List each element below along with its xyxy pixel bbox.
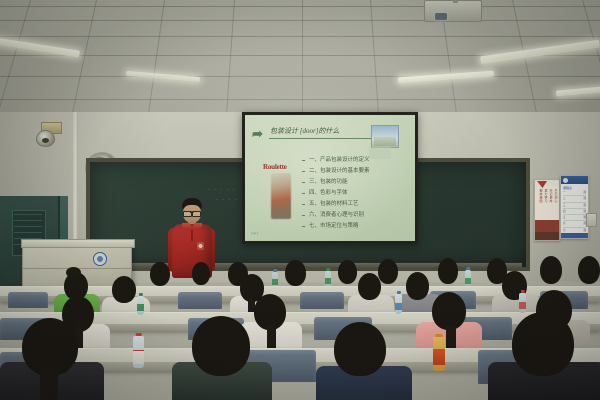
lectern-top xyxy=(21,239,135,248)
projector-mount xyxy=(453,0,458,3)
poster-footer-bar xyxy=(561,233,588,238)
poster-line: 努力学习 xyxy=(544,189,547,203)
poster-line: 牵记使命 xyxy=(549,189,552,203)
juice-bottle xyxy=(433,337,445,371)
water-bottle xyxy=(133,336,144,368)
poster-title: 课程表 xyxy=(563,186,572,190)
slide-corner-photo xyxy=(371,125,399,148)
blue-schedule-poster: 课程表 一 课 二 课 三 课 四 课 五 课 六 xyxy=(560,175,589,239)
row-right: 课 xyxy=(583,196,586,201)
slide-bullet-list: 一、产品包装设计的定义 二、包装设计的基本要素 三、包装的功能 四、色彩与字体 … xyxy=(301,155,407,232)
slide-bullet: 一、产品包装设计的定义 xyxy=(301,155,407,166)
poster-line: 报效祖国 xyxy=(539,189,542,203)
presenter-placket xyxy=(191,230,193,241)
poster-badge-icon xyxy=(563,178,568,183)
poster-header-bar xyxy=(561,176,588,184)
water-bottle xyxy=(137,296,144,315)
row-right: 课 xyxy=(583,190,586,195)
red-notice-poster: 不忘初心 牵记使命 努力学习 报效祖国 xyxy=(534,179,560,241)
row-right: 课 xyxy=(583,203,586,208)
seat xyxy=(300,292,344,309)
university-seal-icon xyxy=(93,252,107,266)
dome-security-camera-icon xyxy=(36,130,55,147)
classroom-photo: · · · · · · · · · ➦ 包装设计 [door]的什么 Roule… xyxy=(0,0,600,400)
poster-line: 不忘初心 xyxy=(554,189,557,203)
presenter-speaker xyxy=(166,198,216,278)
light-switch-panel[interactable] xyxy=(586,213,597,227)
row-left: 六 xyxy=(563,221,566,226)
water-bottle xyxy=(395,294,402,314)
row-left: 一 xyxy=(563,190,566,195)
slide-bullet: 七、市场定位与策略 xyxy=(301,221,407,232)
conduit-pipe xyxy=(73,112,78,244)
chalk-mark-1: · · · · · xyxy=(208,186,236,194)
slide-footer: PPT xyxy=(251,231,259,236)
seat xyxy=(178,292,222,309)
water-bottle xyxy=(465,270,471,287)
poster-table: 一 课 二 课 三 课 四 课 五 课 六 课 xyxy=(563,190,586,234)
slide-bullet: 二、包装设计的基本要素 xyxy=(301,166,407,177)
slide-bullet: 四、色彩与字体 xyxy=(301,188,407,199)
slide-bullet: 三、包装的功能 xyxy=(301,177,407,188)
slide-product-photo xyxy=(271,173,291,219)
row-left: 四 xyxy=(563,209,566,214)
seat xyxy=(8,292,48,308)
projection-screen[interactable]: ➦ 包装设计 [door]的什么 Roulette 一、产品包装设计的定义 二、… xyxy=(245,115,415,241)
slide-bullet: 六、消费者心理与识别 xyxy=(301,210,407,221)
projector-icon xyxy=(424,0,482,22)
slide-bullet: 五、包装的材料工艺 xyxy=(301,199,407,210)
water-bottle xyxy=(519,293,526,313)
row-left: 三 xyxy=(563,203,566,208)
shirt-logo-icon xyxy=(197,242,204,250)
row-left: 二 xyxy=(563,196,566,201)
swirl-logo-icon: ➦ xyxy=(252,127,266,141)
slide-brand-label: Roulette xyxy=(263,163,287,171)
projector-lens xyxy=(435,13,447,20)
glasses-icon xyxy=(183,211,201,215)
flag-icon xyxy=(537,181,547,188)
row-left: 五 xyxy=(563,215,566,220)
chalk-mark-2: · · · · xyxy=(216,196,238,204)
